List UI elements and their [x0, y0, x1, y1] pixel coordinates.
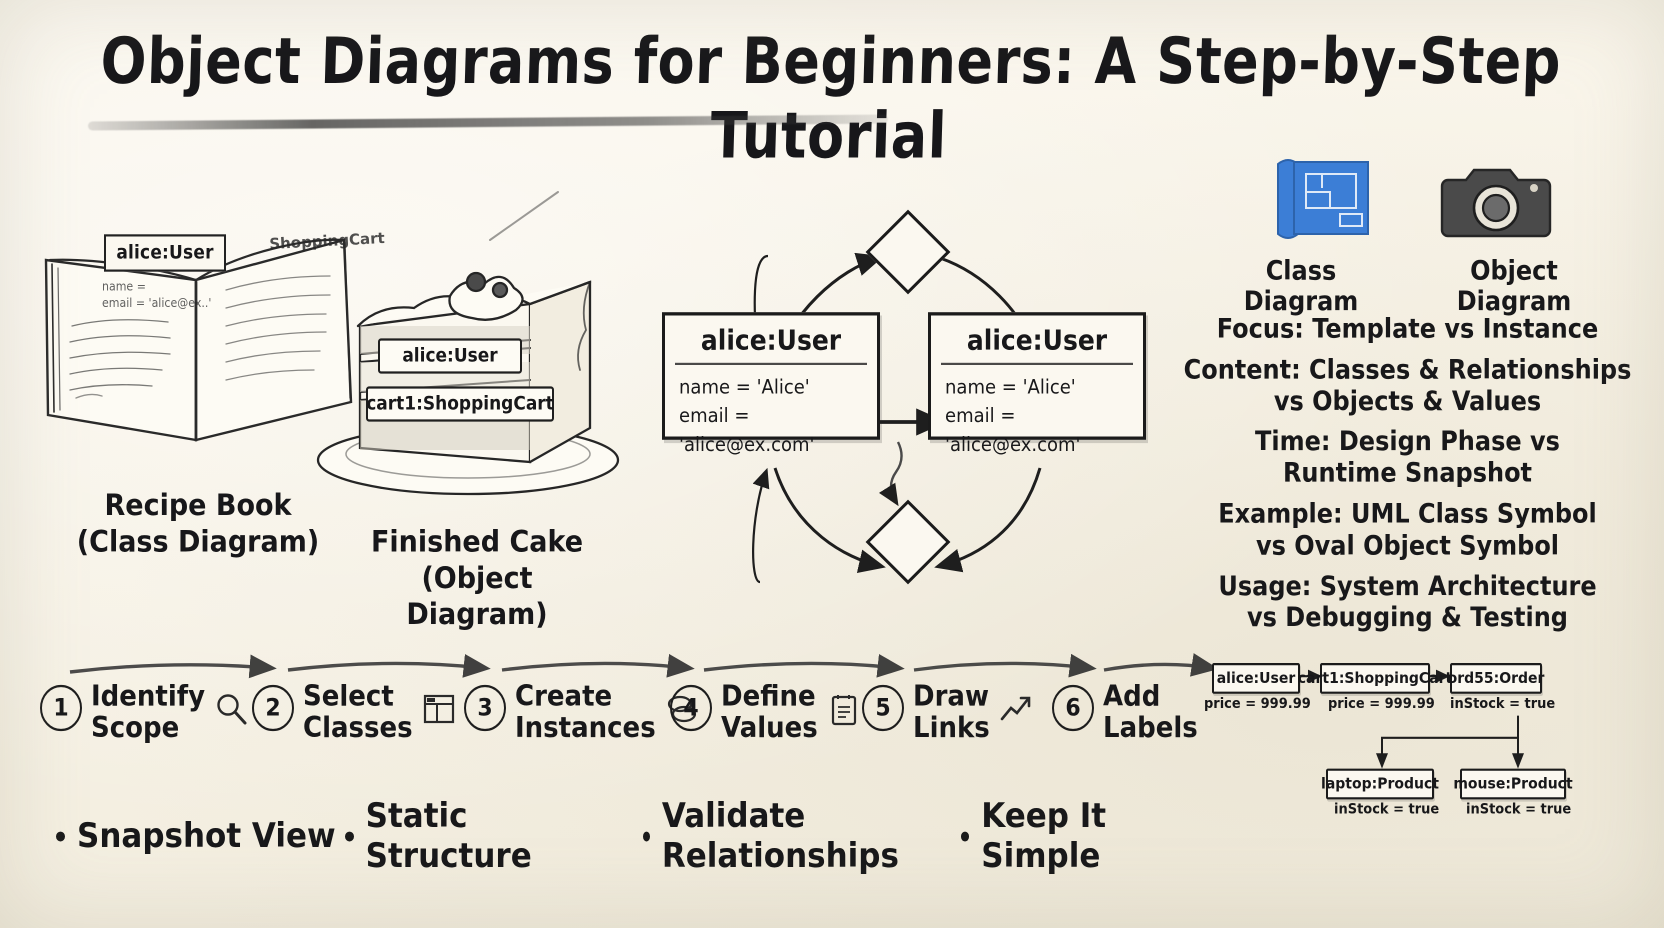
finished-cake-illustration: alice:User cart1:ShoppingCart [300, 230, 640, 520]
object-box-right: alice:User name = 'Alice' email = 'alice… [928, 312, 1146, 440]
bullet-dot-icon [345, 831, 354, 841]
comparison-panel: Class Diagram Object Diagram Focus: Temp… [1175, 148, 1640, 627]
step-2[interactable]: 2 Select Classes [252, 684, 456, 742]
object-box-left-attributes: name = 'Alice' email = 'alice@ex.com' [665, 365, 877, 471]
step-3[interactable]: 3 Create Instances [464, 684, 699, 742]
mini-box-laptop: laptop:Product [1326, 769, 1434, 800]
step-6-number: 6 [1052, 685, 1094, 731]
trend-arrow-icon [999, 692, 1033, 726]
bullet-dot-icon [56, 831, 65, 841]
mini-attr-3: inStock = true [1334, 802, 1439, 819]
step-1-number: 1 [40, 685, 82, 731]
step-1[interactable]: 1 Identify Scope [40, 684, 248, 742]
step-5[interactable]: 5 Draw Links [862, 684, 1033, 742]
object-diagram-graph: alice:User name = 'Alice' email = 'alice… [640, 200, 1180, 590]
step-sequence: 1 Identify Scope 2 Select Classes 3 Crea… [40, 646, 1220, 756]
step-5-number: 5 [862, 685, 904, 731]
step-4-number: 4 [670, 685, 712, 731]
step-5-label: Draw Links [913, 681, 990, 745]
step-1-label: Identify Scope [91, 681, 205, 745]
book-chip-alice-user: alice:User [104, 234, 226, 271]
cake-layer-chip-alice-user: alice:User [378, 338, 522, 373]
book-scribble: name = email = 'alice@ex..' [102, 279, 242, 312]
link-diamond-top [866, 210, 951, 295]
bullet-label: Validate Relationships [662, 796, 961, 875]
step-2-label: Select Classes [303, 681, 413, 745]
cake-layer-chip-cart1: cart1:ShoppingCart [366, 386, 554, 421]
bullet-dot-icon [961, 831, 970, 841]
mini-attr-1: price = 999.99 [1328, 696, 1435, 713]
label-object-diagram: Object Diagram [1422, 255, 1607, 317]
mini-box-ord55: ord55:Order [1450, 663, 1542, 694]
object-box-left: alice:User name = 'Alice' email = 'alice… [662, 312, 880, 440]
label-class-diagram: Class Diagram [1209, 255, 1394, 317]
cake-sketch [300, 230, 640, 520]
bullet-label: Snapshot View [77, 816, 336, 856]
object-box-left-title: alice:User [665, 316, 877, 363]
camera-icon [1440, 152, 1552, 252]
key-points-row: Snapshot View Static Structure Validate … [56, 796, 1226, 875]
bullet-item: Snapshot View [56, 816, 345, 856]
poster-canvas: Object Diagrams for Beginners: A Step-by… [0, 0, 1664, 928]
mini-object-diagram: alice:User price = 999.99 cart1:Shopping… [1198, 652, 1628, 828]
clipboard-icon [827, 692, 861, 726]
step-3-label: Create Instances [515, 681, 656, 745]
blueprint-icon [1264, 148, 1382, 252]
comparison-row: Content: Classes & Relationships vs Obje… [1175, 354, 1640, 417]
magnifier-icon [214, 692, 248, 726]
recipe-book-caption: Recipe Book (Class Diagram) [58, 489, 338, 561]
object-box-left-divider [675, 363, 867, 365]
link-diamond-bottom [866, 500, 951, 585]
comparison-row: Focus: Template vs Instance [1175, 313, 1640, 345]
comparison-rows: Focus: Template vs Instance Content: Cla… [1175, 313, 1640, 633]
mini-box-alice-user: alice:User [1212, 663, 1300, 694]
comparison-row: Usage: System Architecture vs Debugging … [1175, 570, 1640, 633]
mini-attr-2: inStock = true [1450, 696, 1555, 713]
step-4-label: Define Values [721, 681, 818, 745]
step-3-number: 3 [464, 685, 506, 731]
step-6-label: Add Labels [1103, 681, 1198, 745]
layout-icon [422, 692, 456, 726]
bullet-item: Static Structure [345, 796, 643, 875]
object-box-right-divider [941, 363, 1133, 365]
object-box-right-attributes: name = 'Alice' email = 'alice@ex.com' [931, 365, 1143, 471]
comparison-row: Time: Design Phase vs Runtime Snapshot [1175, 426, 1640, 489]
bullet-item: Keep It Simple [961, 796, 1226, 875]
finished-cake-caption: Finished Cake (Object Diagram) [352, 525, 602, 634]
bullet-label: Keep It Simple [981, 796, 1226, 875]
bullet-item: Validate Relationships [643, 796, 961, 875]
mini-attr-4: inStock = true [1466, 802, 1571, 819]
step-6[interactable]: 6 Add Labels [1052, 684, 1198, 742]
bullet-dot-icon [643, 831, 650, 841]
comparison-icon-labels: Class Diagram Object Diagram [1175, 255, 1640, 317]
object-box-right-title: alice:User [931, 316, 1143, 363]
comparison-row: Example: UML Class Symbol vs Oval Object… [1175, 498, 1640, 561]
step-4[interactable]: 4 Define Values [670, 684, 861, 742]
mini-box-cart1: cart1:ShoppingCart [1320, 663, 1430, 694]
mini-box-mouse: mouse:Product [1460, 769, 1566, 800]
bullet-label: Static Structure [366, 796, 643, 875]
comparison-icons [1175, 148, 1640, 252]
mini-attr-0: price = 999.99 [1204, 696, 1311, 713]
step-2-number: 2 [252, 685, 294, 731]
